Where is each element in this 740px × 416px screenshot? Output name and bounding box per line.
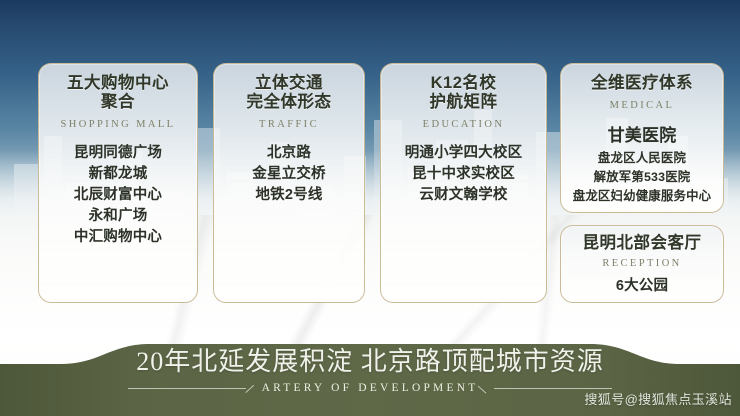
- list-item: 北京路: [214, 143, 364, 164]
- list-item: 昆十中求实校区: [381, 164, 546, 185]
- card-title-line: 立体交通: [214, 74, 364, 93]
- card-traffic[interactable]: 立体交通 完全体形态 TRAFFIC 北京路 金星立交桥 地铁2号线: [213, 63, 365, 303]
- card-item-list: 6大公园: [561, 276, 723, 297]
- list-item: 金星立交桥: [214, 164, 364, 185]
- list-item: 昆明同德广场: [39, 143, 197, 164]
- card-title-line: 昆明北部会客厅: [561, 234, 723, 253]
- card-title: 五大购物中心 聚合: [39, 74, 197, 112]
- banner-rule-left: [128, 388, 246, 389]
- card-title-line: 聚合: [39, 93, 197, 112]
- card-reception[interactable]: 昆明北部会客厅 RECEPTION 6大公园: [560, 225, 724, 303]
- card-title-line: 护航矩阵: [381, 93, 546, 112]
- list-item: 盘龙区妇幼健康服务中心: [561, 187, 723, 206]
- list-item: 北辰财富中心: [39, 185, 197, 206]
- card-subtitle: RECEPTION: [561, 258, 723, 269]
- card-item-list: 明通小学四大校区 昆十中求实校区 云财文翰学校: [381, 143, 546, 206]
- list-item: 云财文翰学校: [381, 185, 546, 206]
- list-item: 6大公园: [561, 276, 723, 297]
- card-item-list: 甘美医院 盘龙区人民医院 解放军第533医院 盘龙区妇幼健康服务中心: [561, 124, 723, 206]
- card-title-line: 五大购物中心: [39, 74, 197, 93]
- card-title: 全维医疗体系: [561, 74, 723, 93]
- card-item-list: 昆明同德广场 新都龙城 北辰财富中心 永和广场 中汇购物中心: [39, 143, 197, 248]
- list-item: 解放军第533医院: [561, 168, 723, 187]
- list-item: 中汇购物中心: [39, 227, 197, 248]
- list-item: 新都龙城: [39, 164, 197, 185]
- list-item: 盘龙区人民医院: [561, 149, 723, 168]
- list-item-primary: 甘美医院: [561, 124, 723, 148]
- list-item: 明通小学四大校区: [381, 143, 546, 164]
- card-education[interactable]: K12名校 护航矩阵 EDUCATION 明通小学四大校区 昆十中求实校区 云财…: [380, 63, 547, 303]
- card-title-line: 全维医疗体系: [561, 74, 723, 93]
- banner-subtitle-row: ARTERY OF DEVELOPMENT: [128, 382, 613, 394]
- bottom-banner: 20年北延发展积淀 北京路顶配城市资源 ARTERY OF DEVELOPMEN…: [0, 336, 740, 416]
- watermark: 搜狐号@搜狐焦点玉溪站: [584, 389, 732, 408]
- card-subtitle: MEDICAL: [561, 100, 723, 111]
- card-subtitle: SHOPPING MALL: [39, 119, 197, 130]
- banner-tick-right-icon: [485, 383, 494, 393]
- slide-canvas: 五大购物中心 聚合 SHOPPING MALL 昆明同德广场 新都龙城 北辰财富…: [0, 0, 740, 416]
- card-shopping-mall[interactable]: 五大购物中心 聚合 SHOPPING MALL 昆明同德广场 新都龙城 北辰财富…: [38, 63, 198, 303]
- list-item: 地铁2号线: [214, 185, 364, 206]
- banner-title: 20年北延发展积淀 北京路顶配城市资源: [136, 347, 604, 377]
- banner-subtitle: ARTERY OF DEVELOPMENT: [255, 382, 486, 394]
- card-title: K12名校 护航矩阵: [381, 74, 546, 112]
- card-item-list: 北京路 金星立交桥 地铁2号线: [214, 143, 364, 206]
- card-title-line: K12名校: [381, 74, 546, 93]
- card-medical[interactable]: 全维医疗体系 MEDICAL 甘美医院 盘龙区人民医院 解放军第533医院 盘龙…: [560, 63, 724, 213]
- banner-tick-left-icon: [246, 383, 255, 393]
- list-item: 永和广场: [39, 206, 197, 227]
- card-title: 立体交通 完全体形态: [214, 74, 364, 112]
- card-title-line: 完全体形态: [214, 93, 364, 112]
- card-subtitle: EDUCATION: [381, 119, 546, 130]
- card-title: 昆明北部会客厅: [561, 234, 723, 253]
- card-subtitle: TRAFFIC: [214, 119, 364, 130]
